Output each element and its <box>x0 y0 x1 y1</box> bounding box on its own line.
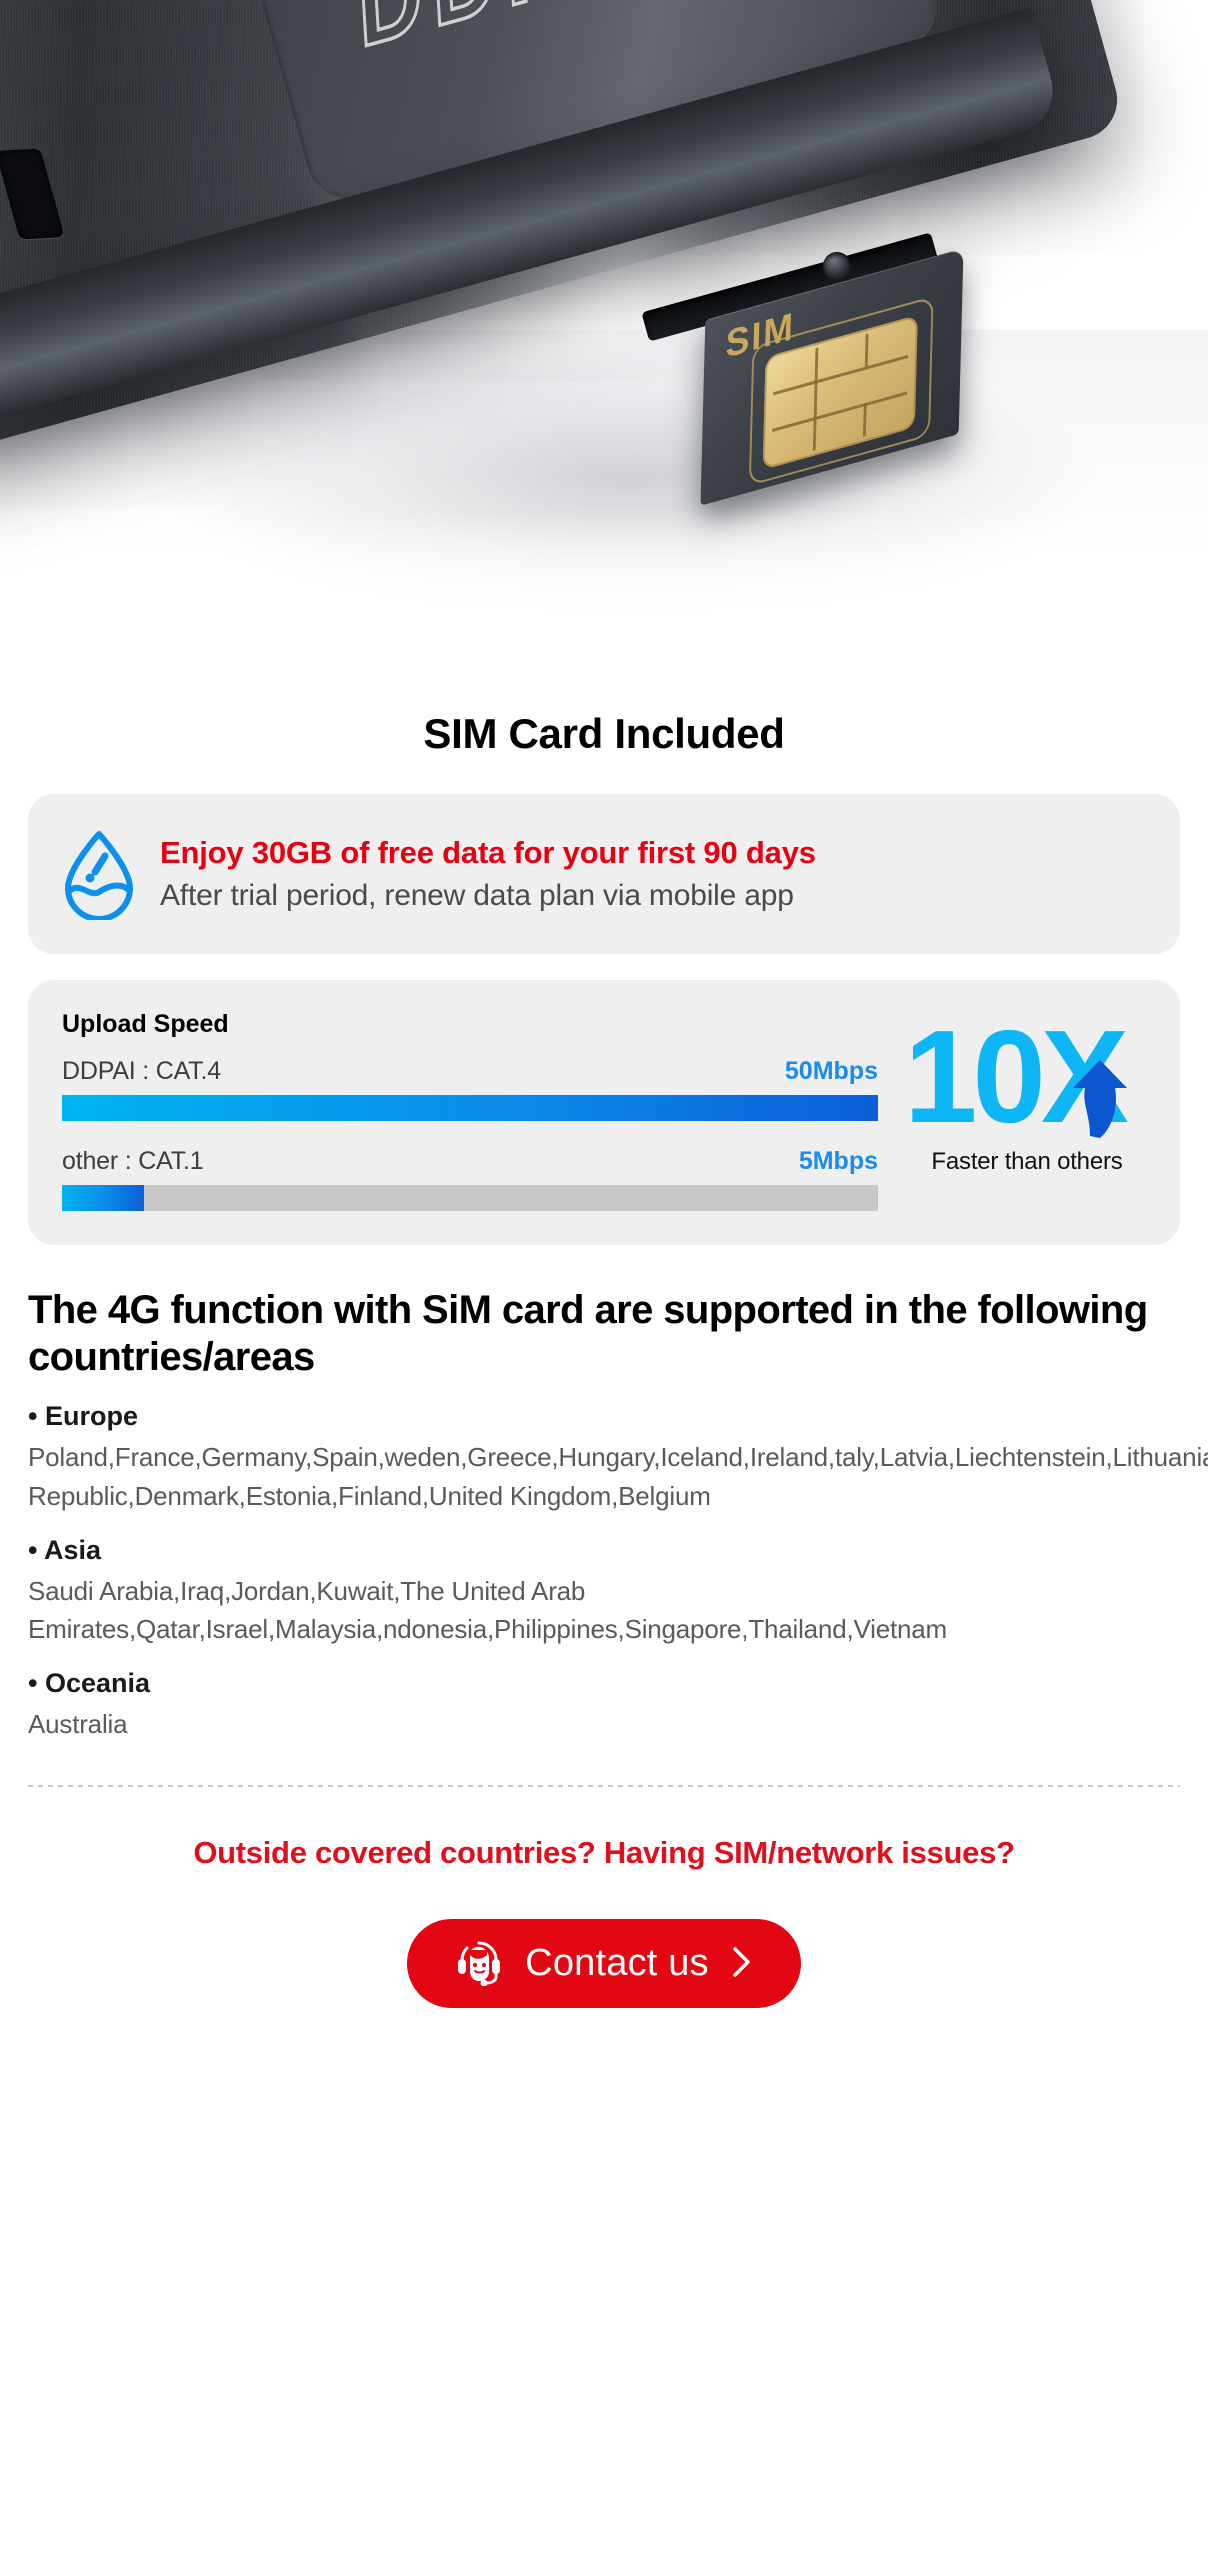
bar-value-1: 5Mbps <box>799 1147 878 1176</box>
bar-track-0 <box>62 1095 878 1121</box>
section-divider <box>28 1785 1180 1787</box>
speed-bars: Upload Speed DDPAI : CAT.4 50Mbps other … <box>62 1010 878 1211</box>
faster-than-others-caption: Faster than others <box>931 1148 1122 1176</box>
countries-heading: The 4G function with SiM card are suppor… <box>28 1287 1180 1381</box>
photo-fade-overlay <box>0 510 1208 700</box>
water-drop-icon <box>62 828 136 920</box>
region-list-oceania: Australia <box>28 1705 1180 1743</box>
region-name-asia: Asia <box>28 1535 1180 1566</box>
sim-eject-pinhole <box>823 252 851 280</box>
bar-label-row-1: other : CAT.1 5Mbps <box>62 1147 878 1176</box>
free-data-card: Enjoy 30GB of free data for your first 9… <box>28 794 1180 954</box>
contact-us-label: Contact us <box>525 1942 709 1985</box>
bar-category-1: other : CAT.1 <box>62 1147 203 1176</box>
supported-countries-section: The 4G function with SiM card are suppor… <box>0 1287 1208 1743</box>
speed-chart-title: Upload Speed <box>62 1010 878 1039</box>
bar-label-row-0: DDPAI : CAT.4 50Mbps <box>62 1057 878 1086</box>
free-data-headline: Enjoy 30GB of free data for your first 9… <box>160 835 816 871</box>
bar-fill-1 <box>62 1185 144 1211</box>
region-name-europe: Europe <box>28 1401 1180 1432</box>
hero-product-photo: DDPAI SIM <box>0 0 1208 700</box>
contact-us-button[interactable]: Contact us <box>407 1919 801 2008</box>
headset-support-icon <box>455 1938 503 1989</box>
page-title: SIM Card Included <box>0 710 1208 758</box>
bar-fill-0 <box>62 1095 878 1121</box>
cta-button-wrapper: Contact us <box>0 1919 1208 2008</box>
free-data-subtext: After trial period, renew data plan via … <box>160 879 816 913</box>
bar-category-0: DDPAI : CAT.4 <box>62 1057 221 1086</box>
region-list-europe: Poland,France,Germany,Spain,weden,Greece… <box>28 1438 1180 1514</box>
bar-value-0: 50Mbps <box>785 1057 878 1086</box>
upload-speed-card: Upload Speed DDPAI : CAT.4 50Mbps other … <box>28 980 1180 1245</box>
ten-x-graphic: 10X <box>904 1018 1150 1142</box>
chevron-right-icon <box>731 1945 753 1982</box>
region-name-oceania: Oceania <box>28 1668 1180 1699</box>
cta-question-text: Outside covered countries? Having SIM/ne… <box>0 1835 1208 1871</box>
speed-multiplier-block: 10X Faster than others <box>904 1010 1150 1176</box>
region-list-asia: Saudi Arabia,Iraq,Jordan,Kuwait,The Unit… <box>28 1572 1180 1648</box>
bar-track-1 <box>62 1185 878 1211</box>
